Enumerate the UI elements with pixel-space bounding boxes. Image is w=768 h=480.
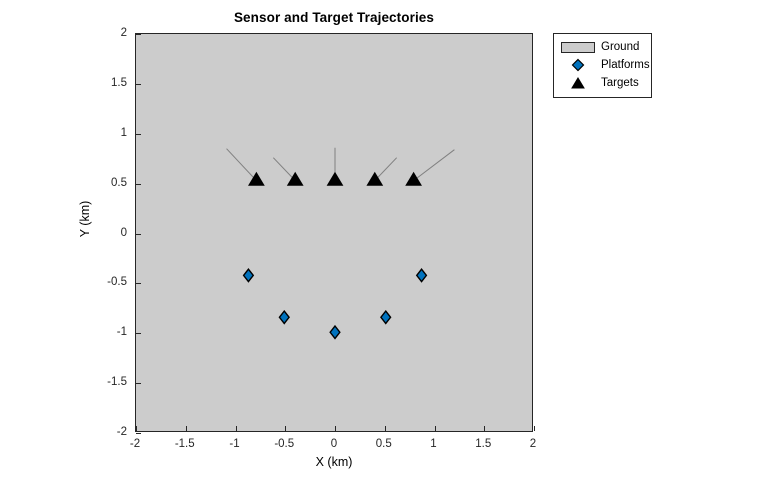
legend-triangle-icon: [559, 75, 597, 91]
y-tick-label-3: 0.5: [111, 177, 127, 189]
legend-label-platforms: Platforms: [601, 59, 650, 71]
y-tickmark-1: [136, 84, 141, 85]
legend-item-ground[interactable]: Ground: [559, 38, 646, 56]
x-tick-label-1: -1.5: [175, 438, 195, 450]
x-tickmark-0: [136, 426, 137, 431]
legend-item-targets[interactable]: Targets: [559, 74, 646, 92]
target-marker-4: [406, 173, 421, 186]
x-tick-label-8: 2: [530, 438, 536, 450]
platform-marker-4: [417, 269, 427, 281]
x-tickmark-1: [186, 426, 187, 431]
x-tick-label-3: -0.5: [274, 438, 294, 450]
velocity-vector-layer: [227, 148, 455, 181]
target-marker-2: [328, 173, 343, 186]
x-tick-label-6: 1: [430, 438, 436, 450]
x-tick-label-5: 0.5: [376, 438, 392, 450]
x-tickmark-6: [435, 426, 436, 431]
velocity-vector-4: [414, 150, 455, 181]
y-tick-label-5: -0.5: [107, 276, 127, 288]
legend-swatch-ground-icon: [559, 39, 597, 55]
platform-marker-0: [244, 269, 254, 281]
x-axis-label: X (km): [135, 455, 533, 469]
y-tick-label-7: -1.5: [107, 376, 127, 388]
plot-area[interactable]: [135, 33, 533, 432]
velocity-vector-1: [273, 158, 295, 181]
x-tickmark-2: [236, 426, 237, 431]
y-tick-label-4: 0: [121, 227, 127, 239]
x-tick-label-0: -2: [130, 438, 140, 450]
platforms-marker-layer: [244, 269, 427, 338]
x-tick-label-2: -1: [229, 438, 239, 450]
x-tickmark-8: [534, 426, 535, 431]
legend[interactable]: Ground Platforms Targets: [553, 33, 652, 98]
plot-svg: [136, 34, 534, 433]
y-tickmark-4: [136, 234, 141, 235]
legend-label-ground: Ground: [601, 41, 639, 53]
y-tickmark-7: [136, 383, 141, 384]
y-tick-label-8: -2: [117, 426, 127, 438]
y-tickmark-6: [136, 333, 141, 334]
legend-label-targets: Targets: [601, 77, 639, 89]
velocity-vector-3: [375, 158, 397, 181]
y-tick-label-6: -1: [117, 326, 127, 338]
y-tick-label-0: 2: [121, 27, 127, 39]
x-tick-label-7: 1.5: [475, 438, 491, 450]
page-title: Sensor and Target Trajectories: [135, 10, 533, 25]
x-tickmark-4: [335, 426, 336, 431]
x-tick-label-4: 0: [331, 438, 337, 450]
y-tickmark-0: [136, 34, 141, 35]
x-tickmark-7: [484, 426, 485, 431]
y-tickmark-2: [136, 134, 141, 135]
platform-marker-1: [279, 311, 289, 323]
legend-diamond-icon: [559, 57, 597, 73]
figure-canvas: Sensor and Target Trajectories -2-1.5-1-…: [0, 0, 768, 480]
y-tickmark-8: [136, 433, 141, 434]
y-tick-label-2: 1: [121, 127, 127, 139]
targets-marker-layer: [249, 173, 421, 186]
y-tickmark-5: [136, 283, 141, 284]
platform-marker-2: [330, 326, 340, 338]
velocity-vector-0: [227, 149, 257, 181]
legend-item-platforms[interactable]: Platforms: [559, 56, 646, 74]
y-tick-label-1: 1.5: [111, 77, 127, 89]
platform-marker-3: [381, 311, 391, 323]
x-tickmark-3: [285, 426, 286, 431]
y-axis-label: Y (km): [78, 129, 92, 309]
y-tickmark-3: [136, 184, 141, 185]
x-tickmark-5: [385, 426, 386, 431]
